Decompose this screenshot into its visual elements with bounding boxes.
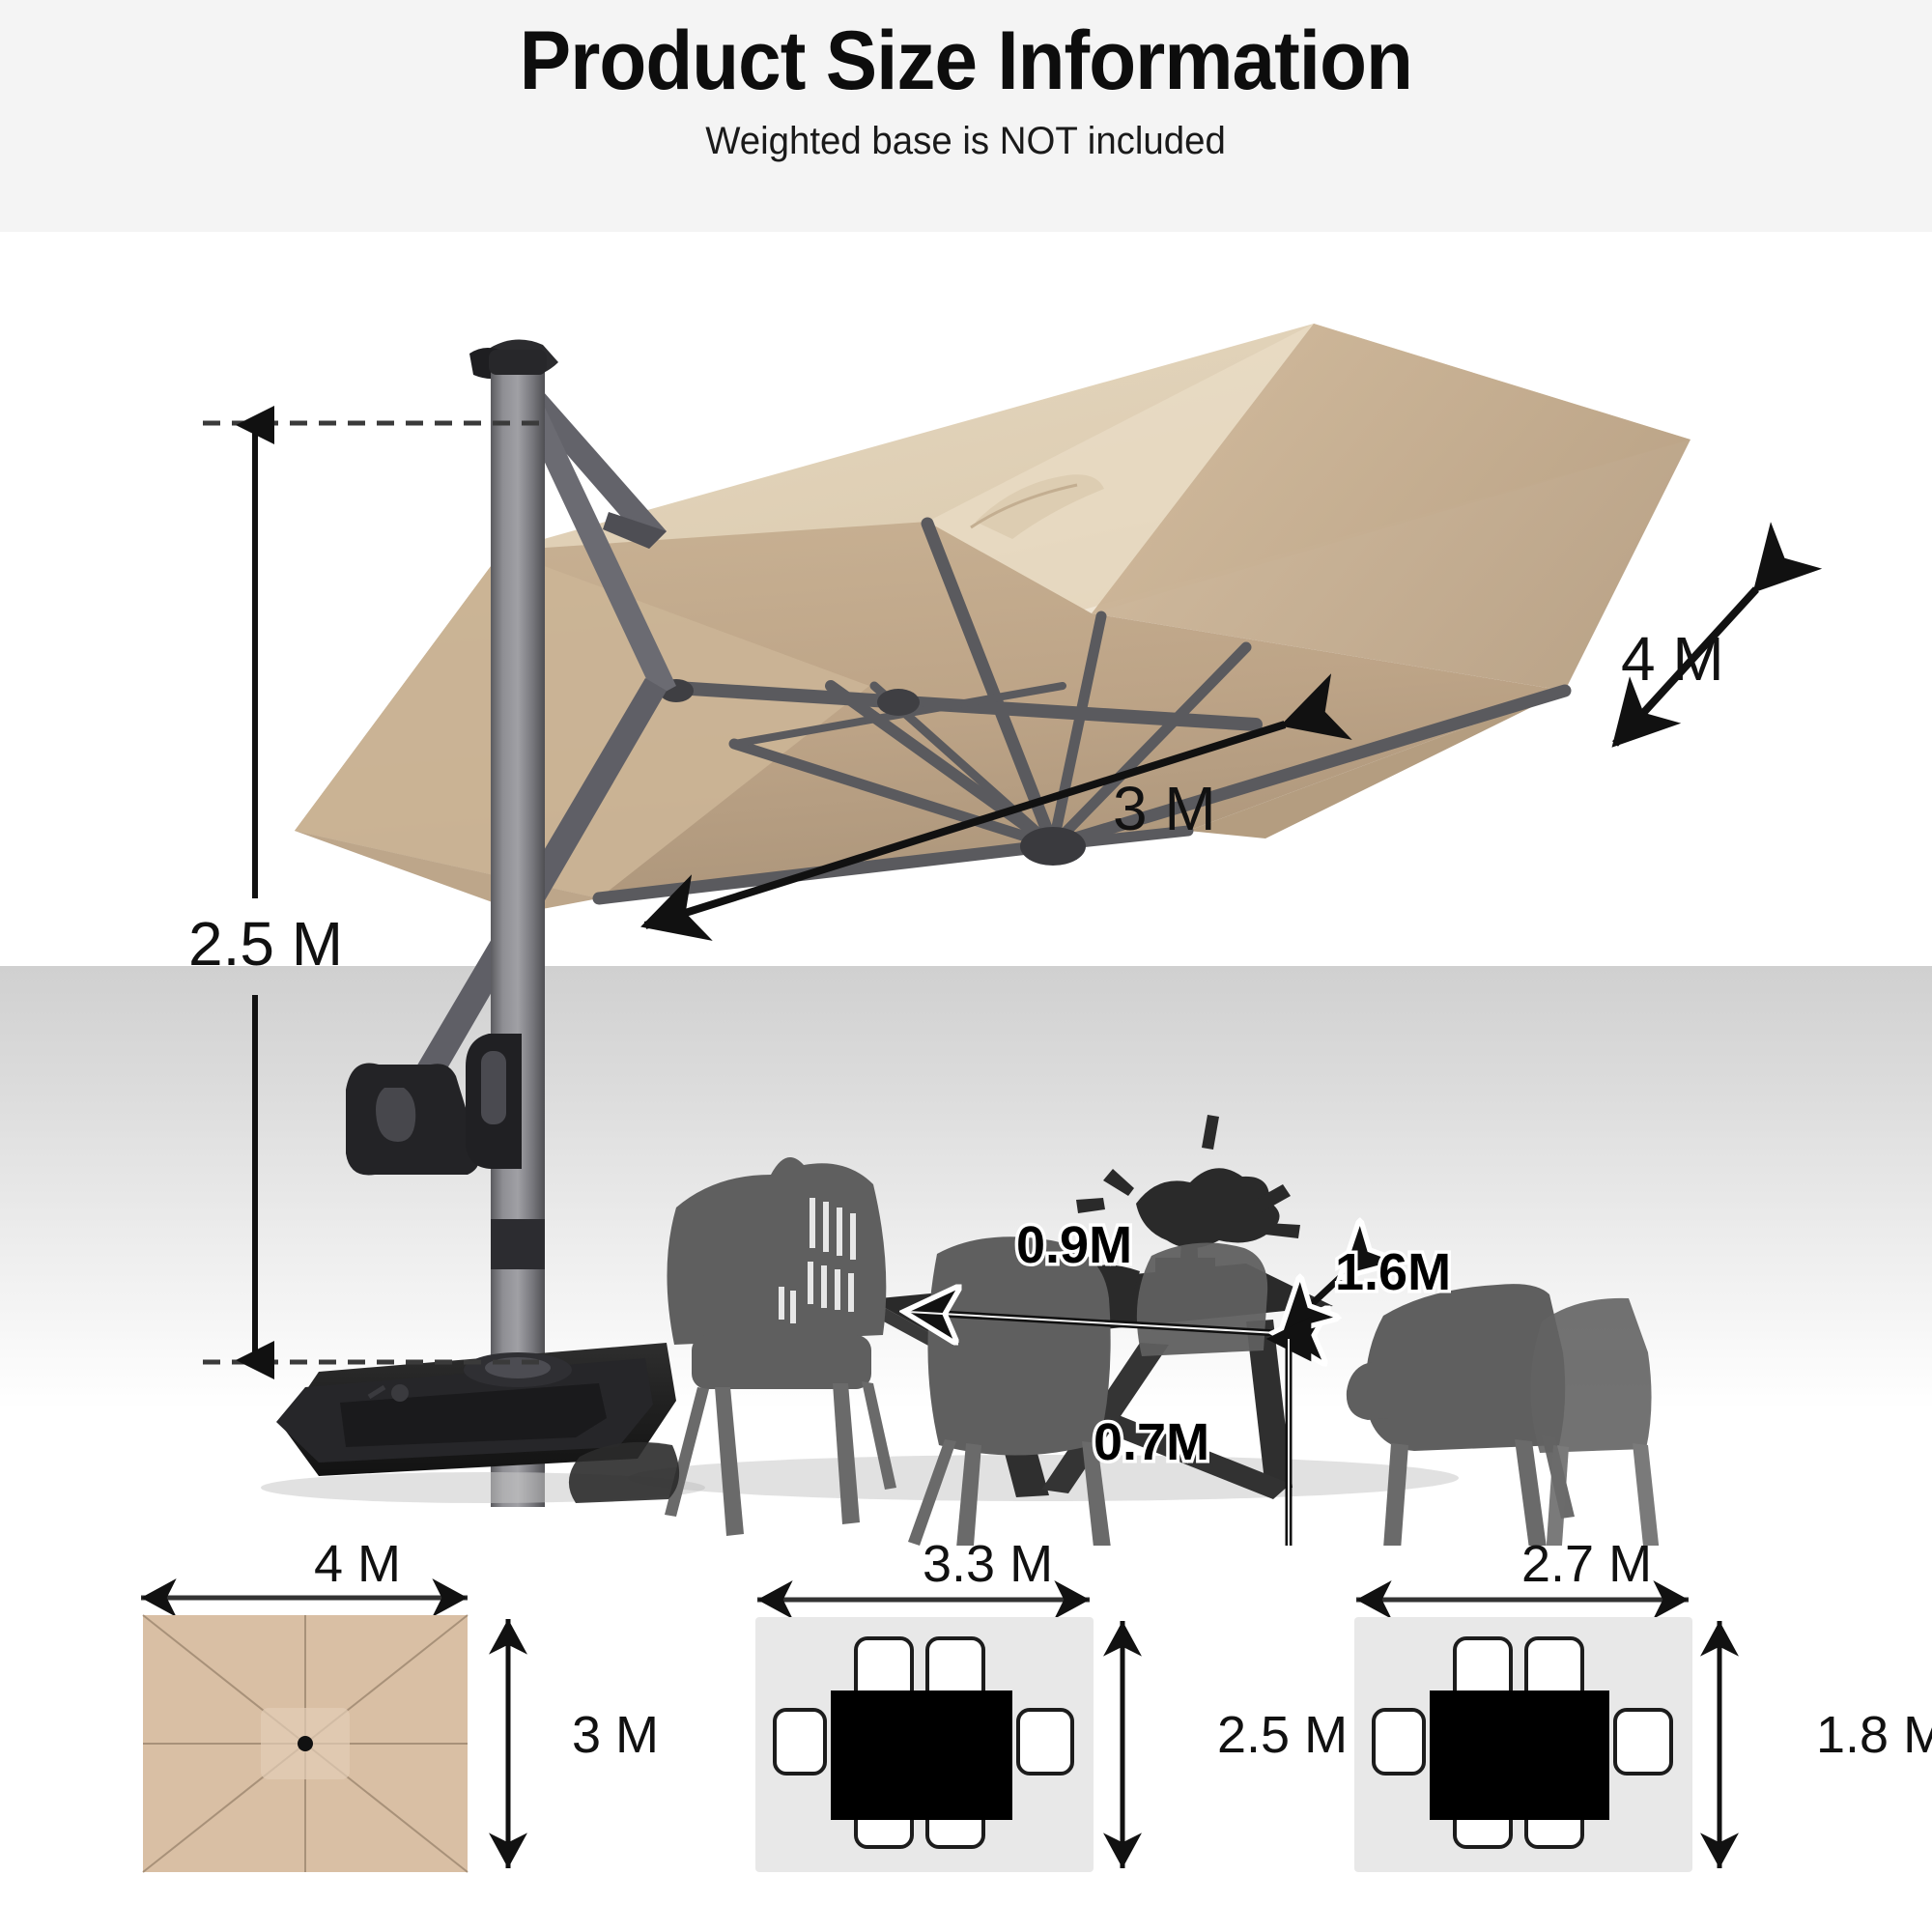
patio-furniture-silhouettes xyxy=(569,1115,1660,1577)
dimension-label-height: 2.5 M xyxy=(188,908,343,980)
panel-1-graphic xyxy=(126,1546,667,1932)
page-title: Product Size Information xyxy=(520,17,1412,104)
dimension-label-canopy-width: 3 M xyxy=(1113,773,1216,844)
rib-joint xyxy=(877,689,920,716)
panel-canopy-footprint: 4 M 3 M xyxy=(126,1546,667,1932)
plan-view-panels: 4 M 3 M xyxy=(0,1546,1932,1932)
patio-chair-far-right xyxy=(1530,1298,1660,1559)
panel-2-table xyxy=(831,1690,1012,1820)
umbrella-pole xyxy=(489,350,547,1507)
scene-illustration xyxy=(0,232,1932,1546)
dimension-label-table-length: 1.6M xyxy=(1335,1242,1451,1302)
panel-four-seat-layout: 2.7 M 1.8 M xyxy=(1343,1546,1922,1932)
panel-2-chair-right xyxy=(1018,1710,1072,1774)
patio-chair-middle xyxy=(908,1236,1113,1571)
canopy-hub xyxy=(1020,827,1086,866)
panel-3-table xyxy=(1430,1690,1609,1820)
header-banner: Product Size Information Weighted base i… xyxy=(0,0,1932,232)
panel-3-chair-left xyxy=(1374,1710,1424,1774)
page-subtitle: Weighted base is NOT included xyxy=(706,120,1227,163)
pole-joint-block xyxy=(466,1034,522,1169)
panel-1-center-dot xyxy=(298,1736,313,1751)
dimension-label-table-height: 0.7M xyxy=(1094,1412,1209,1472)
panel-six-seat-layout: 3.3 M 2.5 M xyxy=(744,1546,1323,1932)
panel-2-graphic xyxy=(744,1546,1323,1932)
patio-chair-back xyxy=(1137,1243,1267,1356)
dimension-label-canopy-depth: 4 M xyxy=(1621,623,1724,695)
dimension-label-table-width: 0.9M xyxy=(1016,1215,1132,1275)
panel-2-chair-left xyxy=(775,1710,825,1774)
main-scene: 2.5 M 3 M 4 M 0.9M 1.6M 0.7M xyxy=(0,232,1932,1546)
panel-3-graphic xyxy=(1343,1546,1922,1932)
panel-3-chair-right xyxy=(1615,1710,1671,1774)
